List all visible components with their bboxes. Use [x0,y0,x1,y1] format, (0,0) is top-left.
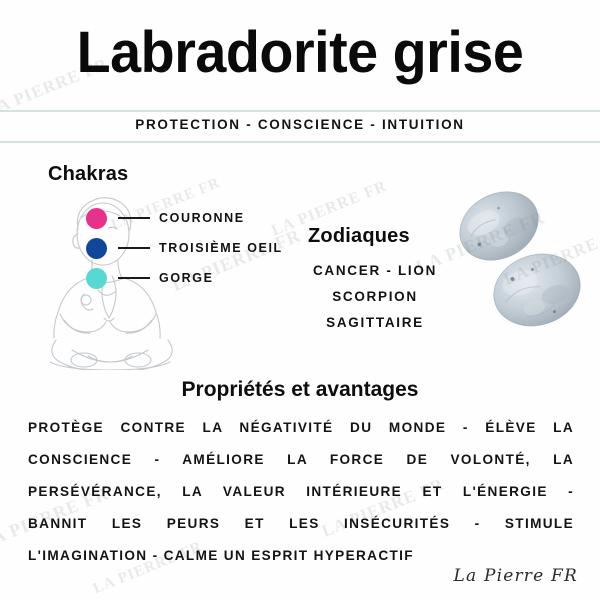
infographic-card: LA PIERRE FR LA PIERRE FR LA PIERRE FR L… [0,0,600,600]
leader-line [118,217,150,219]
chakra-item-troisieme-oeil: TROISIÈME OEIL [86,233,336,263]
chakra-item-couronne: COURONNE [86,203,336,233]
chakra-dot-couronne [86,208,107,229]
chakra-dot-troisieme-oeil [86,238,107,259]
brand-signature: La Pierre FR [454,566,578,586]
properties-heading: Propriétés et avantages [0,378,600,402]
divider-bottom [0,141,600,143]
chakra-dot-gorge [86,268,107,289]
chakra-label: TROISIÈME OEIL [159,241,283,255]
chakra-label: GORGE [159,271,214,285]
properties-body: PROTÈGE CONTRE LA NÉGATIVITÉ DU MONDE - … [28,412,574,572]
zodiac-line: SAGITTAIRE [280,310,470,336]
divider-top [0,110,600,112]
chakra-label: COURONNE [159,211,245,225]
chakras-heading: Chakras [48,163,128,186]
properties-line: CONSCIENCE - AMÉLIORE LA FORCE DE VOLONT… [28,444,574,476]
properties-line: BANNIT LES PEURS ET LES INSÉCURITÉS - ST… [28,508,574,540]
properties-line: PROTÈGE CONTRE LA NÉGATIVITÉ DU MONDE - … [28,412,574,444]
keywords-line: PROTECTION - CONSCIENCE - INTUITION [0,117,600,132]
leader-line [118,277,150,279]
labradorite-stones-image [455,182,595,357]
chakra-legend: COURONNE TROISIÈME OEIL GORGE [86,203,336,293]
chakra-item-gorge: GORGE [86,263,336,293]
properties-line: PERSÉVÉRANCE, LA VALEUR INTÉRIEURE ET L'… [28,476,574,508]
leader-line [118,247,150,249]
page-title: Labradorite grise [12,20,588,86]
